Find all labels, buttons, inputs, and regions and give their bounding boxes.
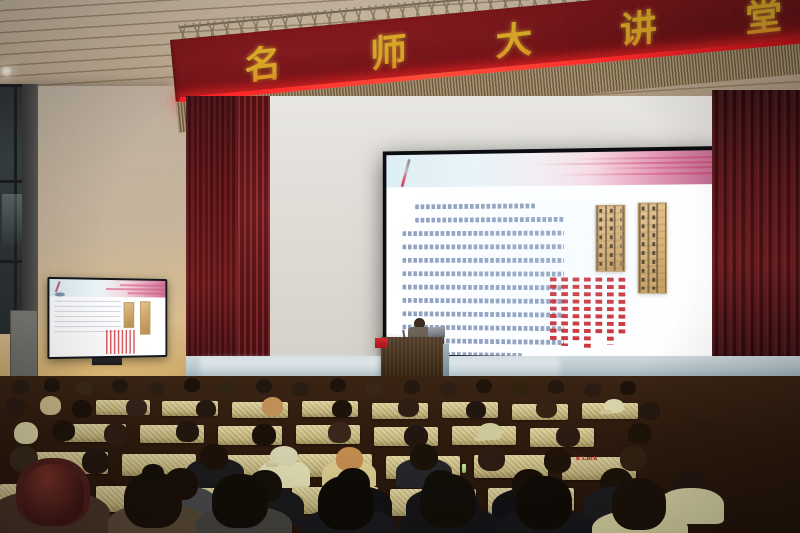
audience-head	[328, 422, 351, 443]
audience-head	[176, 421, 199, 442]
lecture-hall-photo: 名 师 大 讲 堂	[0, 0, 800, 533]
baseball-cap	[270, 446, 298, 466]
banner-char-1: 名	[244, 32, 281, 90]
seal-column	[550, 277, 557, 341]
audience-head	[256, 379, 272, 393]
audience-head	[330, 378, 346, 392]
audience-head	[318, 476, 374, 530]
audience-head	[262, 397, 283, 416]
audience-hair	[22, 464, 84, 526]
podium-side-panel	[443, 344, 449, 380]
seal-column	[607, 278, 614, 345]
audience-head	[620, 381, 636, 395]
audience-head	[536, 399, 557, 418]
audience-head	[556, 425, 580, 447]
audience-head	[76, 381, 93, 395]
audience-head	[544, 448, 571, 473]
audience-head	[548, 380, 564, 394]
audience-head	[620, 446, 647, 471]
audience-head	[126, 398, 147, 417]
audience-head	[398, 398, 419, 417]
seal-script-columns	[550, 277, 625, 348]
audience-head	[692, 420, 715, 441]
audience-head	[82, 449, 109, 474]
audience-head	[512, 382, 529, 396]
seal-column	[573, 278, 580, 341]
banner-char-2: 师	[370, 20, 407, 78]
shirt-slogan: d Luck	[576, 455, 598, 462]
audience-head	[252, 424, 276, 446]
audience-head	[584, 383, 601, 397]
audience-head	[410, 444, 438, 470]
audience-head	[44, 378, 60, 392]
seal-column	[561, 278, 568, 346]
ceiling-light-icon	[0, 67, 13, 77]
lcd-slide-mirror	[49, 279, 165, 357]
audience-head	[404, 380, 420, 394]
audience-head	[628, 423, 651, 444]
audience-head	[466, 401, 486, 419]
audience-head	[52, 420, 75, 441]
audience-head	[112, 379, 128, 393]
audience-head	[104, 423, 128, 445]
audience-head	[612, 478, 666, 530]
audience-head	[420, 474, 476, 528]
left-red-curtain-inner	[238, 96, 270, 384]
audience-hairbun	[142, 464, 164, 482]
mini-seal-columns	[106, 330, 135, 354]
mini-manuscript-1	[124, 302, 135, 328]
red-nameplate	[375, 338, 388, 348]
audience-head	[196, 400, 216, 418]
banner-char-4: 讲	[620, 0, 657, 55]
wall-equipment-box	[10, 310, 38, 380]
left-red-curtain	[186, 96, 244, 386]
audience-head	[40, 396, 61, 415]
seal-column	[618, 278, 625, 335]
audience-head	[184, 378, 200, 392]
seal-column	[595, 278, 602, 337]
audience-head	[440, 382, 457, 396]
audience-head	[218, 381, 235, 395]
manuscript-image-1	[595, 205, 625, 272]
audience-head	[12, 380, 29, 395]
audience-head	[332, 400, 352, 418]
manuscript-image-2	[638, 202, 667, 293]
water-bottle	[462, 464, 466, 473]
mini-manuscript-2	[140, 301, 150, 335]
seal-column	[584, 278, 591, 349]
audience-head	[516, 476, 572, 530]
audience-head	[6, 398, 26, 416]
right-red-curtain	[712, 90, 800, 390]
banner-char-3: 大	[495, 9, 532, 67]
audience-head	[212, 474, 268, 528]
speaker-podium	[381, 337, 444, 381]
wall-mounted-lcd-display[interactable]	[47, 277, 167, 359]
slide-header-band	[386, 150, 718, 188]
baseball-cap	[478, 423, 502, 440]
audience-head	[366, 381, 383, 395]
banner-char-5: 堂	[745, 0, 782, 43]
audience-head	[292, 382, 309, 396]
audience-head	[200, 444, 228, 470]
audience-head	[14, 422, 38, 444]
audience-head	[478, 446, 505, 471]
baseball-cap	[604, 399, 624, 413]
audience-head	[640, 402, 660, 420]
seated-audience: d Luck	[0, 376, 800, 533]
mini-slide-header	[49, 279, 165, 298]
audience-head	[148, 382, 165, 396]
audience-head	[476, 379, 492, 393]
audience-head	[72, 400, 92, 418]
mini-slide-body	[49, 296, 165, 357]
